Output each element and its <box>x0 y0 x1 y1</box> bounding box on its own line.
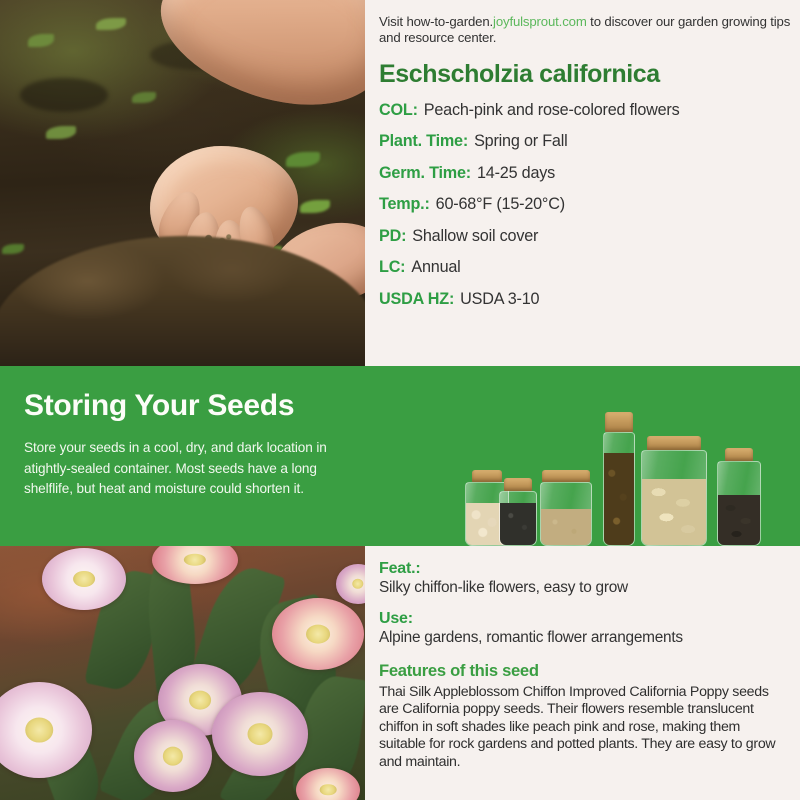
plant-info-panel: Visit how-to-garden.joyfulsprout.com to … <box>365 0 800 366</box>
spec-value: USDA 3-10 <box>460 290 539 309</box>
website-line: Visit how-to-garden.joyfulsprout.com to … <box>379 14 792 47</box>
jar-sand-seed <box>540 470 592 546</box>
use-value: Alpine gardens, romantic flower arrangem… <box>379 629 790 647</box>
spec-label: LC: <box>379 258 405 277</box>
poppy-bloom <box>212 692 308 776</box>
jar-brown-seed <box>603 412 635 546</box>
jar-pumpkin-seed <box>641 436 707 546</box>
storing-body: Store your seeds in a cool, dry, and dar… <box>24 438 354 500</box>
poppy-bloom <box>272 598 364 670</box>
spec-row-temp: Temp.: 60-68°F (15-20°C) <box>379 195 792 227</box>
poppy-bloom <box>42 548 126 610</box>
poppy-bloom <box>336 564 365 604</box>
feat-label: Feat.: <box>379 560 790 578</box>
jar-sunflower-seed <box>717 448 761 546</box>
spec-row-germ-time: Germ. Time: 14-25 days <box>379 164 792 196</box>
spec-value: Peach-pink and rose-colored flowers <box>424 101 680 120</box>
spec-value: Spring or Fall <box>474 132 567 151</box>
spec-label: PD: <box>379 227 406 246</box>
spec-label: Temp.: <box>379 195 430 214</box>
jar-dark-grain <box>499 478 537 546</box>
spec-row-pd: PD: Shallow soil cover <box>379 227 792 259</box>
spec-list: COL: Peach-pink and rose-colored flowers… <box>379 101 792 322</box>
poppy-flowers-photo <box>0 546 365 800</box>
spec-value: Annual <box>411 258 460 277</box>
page-title: Eschscholzia californica <box>379 60 792 89</box>
storing-seeds-band: Storing Your Seeds Store your seeds in a… <box>0 366 800 546</box>
spec-value: Shallow soil cover <box>412 227 538 246</box>
website-line-before: Visit how-to-garden. <box>379 14 493 29</box>
sowing-seeds-photo <box>0 0 365 366</box>
seed-packet-infographic: Visit how-to-garden.joyfulsprout.com to … <box>0 0 800 800</box>
poppy-bloom <box>296 768 360 800</box>
seed-jars-image <box>455 366 800 546</box>
spec-label: USDA HZ: <box>379 290 454 309</box>
spec-value: 60-68°F (15-20°C) <box>436 195 565 214</box>
spec-row-lc: LC: Annual <box>379 258 792 290</box>
features-description: Thai Silk Appleblossom Chiffon Improved … <box>379 684 790 771</box>
spec-label: COL: <box>379 101 418 120</box>
feat-value: Silky chiffon-like flowers, easy to grow <box>379 579 790 597</box>
features-heading: Features of this seed <box>379 661 790 681</box>
spec-row-plant-time: Plant. Time: Spring or Fall <box>379 132 792 164</box>
spec-row-usda-hz: USDA HZ: USDA 3-10 <box>379 290 792 322</box>
use-label: Use: <box>379 610 790 628</box>
spec-label: Germ. Time: <box>379 164 471 183</box>
features-panel: Feat.: Silky chiffon-like flowers, easy … <box>365 546 800 800</box>
storing-title: Storing Your Seeds <box>24 389 294 423</box>
joyfulsprout-link[interactable]: joyfulsprout.com <box>493 14 587 29</box>
spec-row-col: COL: Peach-pink and rose-colored flowers <box>379 101 792 133</box>
spec-value: 14-25 days <box>477 164 555 183</box>
poppy-bloom <box>134 720 212 792</box>
spec-label: Plant. Time: <box>379 132 468 151</box>
